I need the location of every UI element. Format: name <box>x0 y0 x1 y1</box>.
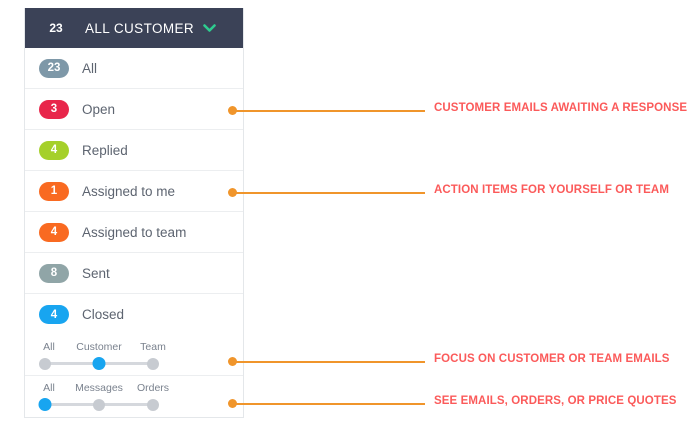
slider-option-label[interactable]: Customer <box>76 341 122 353</box>
annotation-line <box>235 361 425 363</box>
slider-option-label[interactable]: All <box>43 341 55 353</box>
filter-row[interactable]: 3Open <box>25 89 243 130</box>
scope-slider[interactable]: AllCustomerTeam <box>39 335 159 376</box>
slider-stop[interactable] <box>39 358 51 370</box>
filter-row-label: Closed <box>82 307 124 322</box>
filter-row-label: Sent <box>82 266 110 281</box>
slider-stop[interactable] <box>147 399 159 411</box>
slider-list: AllCustomerTeamAllMessagesOrders <box>25 335 243 417</box>
annotation-text: CUSTOMER EMAILS AWAITING A RESPONSE <box>434 102 687 114</box>
annotation-text: SEE EMAILS, ORDERS, OR PRICE QUOTES <box>434 395 676 407</box>
slider-stop[interactable] <box>93 399 105 411</box>
filter-row-list: 23All3Open4Replied1Assigned to me4Assign… <box>25 48 243 335</box>
count-badge: 23 <box>39 59 69 78</box>
slider-option-label[interactable]: All <box>43 382 55 394</box>
filter-row[interactable]: 4Closed <box>25 294 243 335</box>
slider-stop[interactable] <box>39 398 52 411</box>
content-slider[interactable]: AllMessagesOrders <box>39 376 159 417</box>
count-badge: 8 <box>39 264 69 283</box>
slider-option-label[interactable]: Team <box>140 341 166 353</box>
filter-row[interactable]: 1Assigned to me <box>25 171 243 212</box>
filter-row-label: All <box>82 61 97 76</box>
filter-row[interactable]: 4Replied <box>25 130 243 171</box>
filter-row[interactable]: 4Assigned to team <box>25 212 243 253</box>
annotation-text: ACTION ITEMS FOR YOURSELF OR TEAM <box>434 184 669 196</box>
filter-row[interactable]: 8Sent <box>25 253 243 294</box>
header-count-badge: 23 <box>39 18 73 39</box>
count-badge: 4 <box>39 305 69 324</box>
slider-row[interactable]: AllCustomerTeam <box>25 335 243 376</box>
filter-row[interactable]: 23All <box>25 48 243 89</box>
chevron-down-icon[interactable] <box>203 24 216 33</box>
annotation-text: FOCUS ON CUSTOMER OR TEAM EMAILS <box>434 353 670 365</box>
slider-stop[interactable] <box>147 358 159 370</box>
filter-row-label: Open <box>82 102 115 117</box>
slider-labels: AllMessagesOrders <box>39 382 159 396</box>
filter-row-label: Replied <box>82 143 128 158</box>
panel-header[interactable]: 23 ALL CUSTOMER <box>25 8 243 48</box>
filter-row-label: Assigned to team <box>82 225 186 240</box>
slider-option-label[interactable]: Orders <box>137 382 169 394</box>
annotation-line <box>235 192 425 194</box>
count-badge: 3 <box>39 100 69 119</box>
annotation-line <box>235 403 425 405</box>
filter-row-label: Assigned to me <box>82 184 175 199</box>
slider-option-label[interactable]: Messages <box>75 382 123 394</box>
slider-stop[interactable] <box>93 357 106 370</box>
count-badge: 4 <box>39 141 69 160</box>
slider-labels: AllCustomerTeam <box>39 341 159 355</box>
slider-row[interactable]: AllMessagesOrders <box>25 376 243 417</box>
panel-title: ALL CUSTOMER <box>85 21 194 36</box>
customer-filter-panel: 23 ALL CUSTOMER 23All3Open4Replied1Assig… <box>24 8 244 418</box>
annotation-line <box>235 110 425 112</box>
count-badge: 4 <box>39 223 69 242</box>
count-badge: 1 <box>39 182 69 201</box>
